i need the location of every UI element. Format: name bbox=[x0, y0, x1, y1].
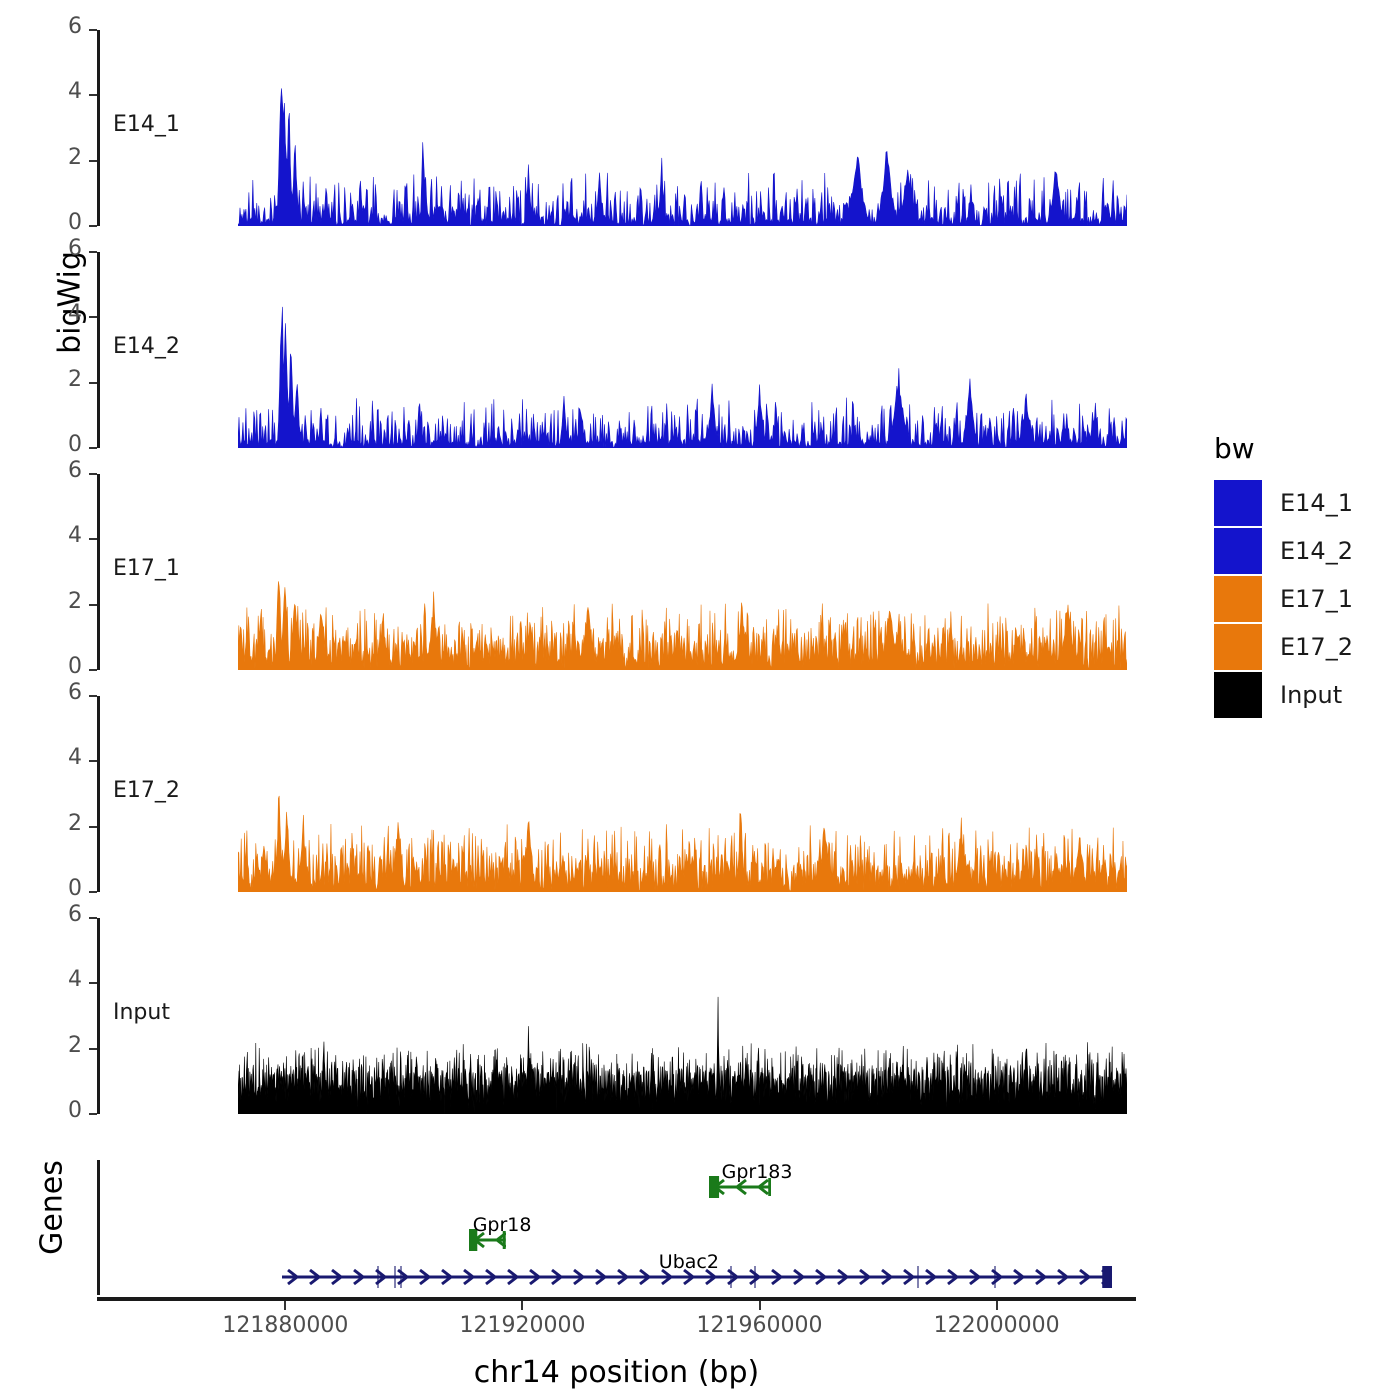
y-axis-line-e14_1 bbox=[97, 30, 100, 226]
y-axis-line-e17_1 bbox=[97, 474, 100, 670]
x-tick-label: 121880000 bbox=[155, 1313, 415, 1338]
y-tick-label: 6 bbox=[2, 680, 82, 705]
y-tick-mark bbox=[89, 760, 97, 762]
y-tick-label: 0 bbox=[2, 654, 82, 679]
track-strip-label-input: Input bbox=[113, 1000, 170, 1025]
track-strip-label-e14_1: E14_1 bbox=[113, 112, 180, 137]
y-tick-mark bbox=[89, 917, 97, 919]
legend-item-e14_1[interactable]: E14_1 bbox=[1214, 479, 1353, 527]
y-axis-line-input bbox=[97, 918, 100, 1114]
y-tick-label: 4 bbox=[2, 745, 82, 770]
gene-label-gpr18: Gpr18 bbox=[473, 1214, 532, 1236]
y-tick-mark bbox=[89, 826, 97, 828]
legend-item-input[interactable]: Input bbox=[1214, 671, 1353, 719]
coverage-panel-e14_2 bbox=[238, 252, 1127, 448]
legend-item-e17_1[interactable]: E17_1 bbox=[1214, 575, 1353, 623]
y-tick-mark bbox=[89, 447, 97, 449]
x-tick-mark bbox=[996, 1301, 998, 1310]
legend-item-label: E17_2 bbox=[1280, 633, 1353, 661]
legend-title: bw bbox=[1214, 432, 1353, 465]
y-tick-label: 4 bbox=[2, 523, 82, 548]
coverage-panel-e14_1 bbox=[238, 30, 1127, 226]
gene-exon-mark bbox=[400, 1266, 402, 1288]
gene-exon-mark bbox=[754, 1266, 756, 1288]
legend-item-label: E14_1 bbox=[1280, 489, 1353, 517]
y-tick-label: 6 bbox=[2, 14, 82, 39]
gene-exon-mark bbox=[917, 1266, 919, 1288]
legend-item-e14_2[interactable]: E14_2 bbox=[1214, 527, 1353, 575]
y-tick-mark bbox=[89, 382, 97, 384]
y-tick-mark bbox=[89, 29, 97, 31]
x-tick-label: 122000000 bbox=[867, 1313, 1127, 1338]
gene-label-gpr183: Gpr183 bbox=[722, 1161, 793, 1183]
y-tick-label: 0 bbox=[2, 432, 82, 457]
y-tick-mark bbox=[89, 604, 97, 606]
y-tick-mark bbox=[89, 891, 97, 893]
track-strip-label-e17_2: E17_2 bbox=[113, 778, 180, 803]
gene-exon-mark bbox=[730, 1266, 732, 1288]
x-tick-mark bbox=[759, 1301, 761, 1310]
coverage-panel-input bbox=[238, 918, 1127, 1114]
track-strip-label-e17_1: E17_1 bbox=[113, 556, 180, 581]
legend-swatch bbox=[1214, 624, 1262, 670]
y-tick-label: 6 bbox=[2, 236, 82, 261]
gene-exon-mark bbox=[994, 1266, 996, 1288]
y-tick-label: 2 bbox=[2, 145, 82, 170]
legend-swatch bbox=[1214, 672, 1262, 718]
y-tick-label: 4 bbox=[2, 301, 82, 326]
gene-exon-mark bbox=[394, 1266, 396, 1288]
y-tick-label: 6 bbox=[2, 902, 82, 927]
y-tick-mark bbox=[89, 669, 97, 671]
y-tick-mark bbox=[89, 316, 97, 318]
y-tick-label: 0 bbox=[2, 210, 82, 235]
y-tick-mark bbox=[89, 538, 97, 540]
y-tick-mark bbox=[89, 1048, 97, 1050]
legend-item-label: Input bbox=[1280, 681, 1342, 709]
x-tick-mark bbox=[521, 1301, 523, 1310]
legend-items: E14_1E14_2E17_1E17_2Input bbox=[1214, 479, 1353, 719]
y-tick-mark bbox=[89, 982, 97, 984]
legend-swatch bbox=[1214, 576, 1262, 622]
y-tick-mark bbox=[89, 251, 97, 253]
y-tick-label: 4 bbox=[2, 967, 82, 992]
y-tick-label: 0 bbox=[2, 1098, 82, 1123]
y-axis-line-e17_2 bbox=[97, 696, 100, 892]
legend-item-e17_2[interactable]: E17_2 bbox=[1214, 623, 1353, 671]
coverage-panel-e17_2 bbox=[238, 696, 1127, 892]
gene-label-ubac2: Ubac2 bbox=[659, 1251, 719, 1273]
genes-axis-line bbox=[97, 1160, 100, 1295]
genes-axis-label: Genes bbox=[35, 1108, 70, 1308]
y-tick-label: 2 bbox=[2, 589, 82, 614]
legend: bw E14_1E14_2E17_1E17_2Input bbox=[1214, 432, 1353, 719]
y-tick-mark bbox=[89, 160, 97, 162]
y-tick-label: 2 bbox=[2, 1033, 82, 1058]
track-strip-label-e14_2: E14_2 bbox=[113, 334, 180, 359]
legend-swatch bbox=[1214, 480, 1262, 526]
legend-swatch bbox=[1214, 528, 1262, 574]
x-tick-label: 121960000 bbox=[630, 1313, 890, 1338]
x-axis-label: chr14 position (bp) bbox=[97, 1355, 1136, 1390]
y-tick-label: 2 bbox=[2, 811, 82, 836]
y-tick-label: 0 bbox=[2, 876, 82, 901]
x-tick-label: 121920000 bbox=[392, 1313, 652, 1338]
y-tick-mark bbox=[89, 473, 97, 475]
y-tick-label: 6 bbox=[2, 458, 82, 483]
gene-exon-mark bbox=[377, 1266, 379, 1288]
legend-item-label: E17_1 bbox=[1280, 585, 1353, 613]
y-tick-mark bbox=[89, 1113, 97, 1115]
x-tick-mark bbox=[284, 1301, 286, 1310]
legend-item-label: E14_2 bbox=[1280, 537, 1353, 565]
y-tick-label: 2 bbox=[2, 367, 82, 392]
y-axis-line-e14_2 bbox=[97, 252, 100, 448]
coverage-panel-e17_1 bbox=[238, 474, 1127, 670]
y-tick-mark bbox=[89, 94, 97, 96]
y-tick-mark bbox=[89, 695, 97, 697]
x-axis-line bbox=[97, 1297, 1136, 1301]
y-tick-label: 4 bbox=[2, 79, 82, 104]
y-tick-mark bbox=[89, 225, 97, 227]
